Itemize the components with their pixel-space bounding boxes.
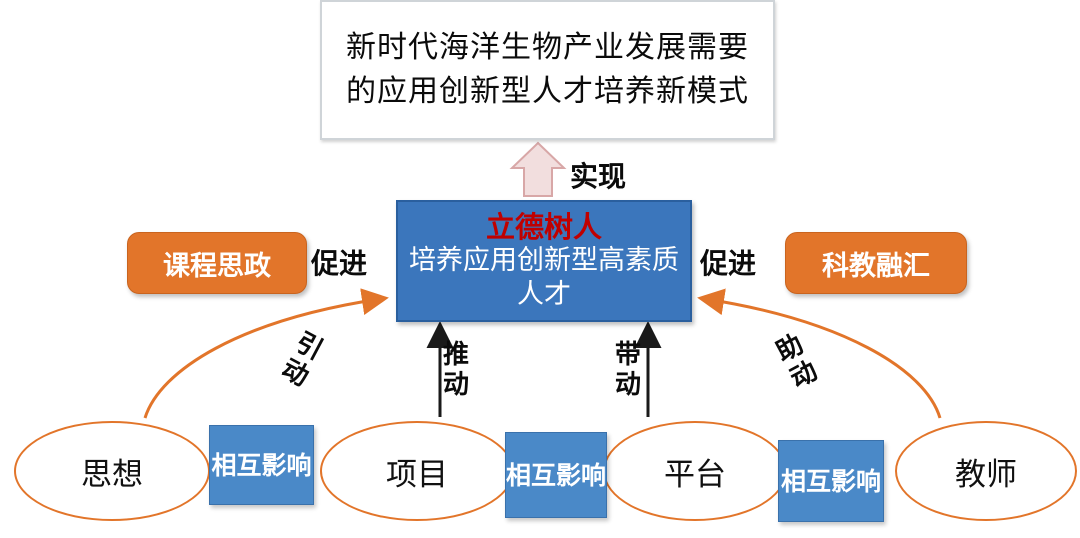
interaction-box-3: 相互影响 [778, 440, 884, 522]
interaction-box-1: 相互影响 [209, 425, 314, 505]
label-promote-left: 促进 [311, 242, 367, 282]
ellipse-sixiang: 思想 [14, 421, 210, 521]
left-orange-box: 课程思政 [127, 232, 307, 294]
ellipse-xiangmu: 项目 [320, 421, 514, 521]
label-drive: 带动 [613, 340, 643, 400]
arrow-up-to-title [512, 143, 564, 196]
label-assist: 助动 [770, 328, 825, 395]
ellipse-jiaoshi: 教师 [895, 421, 1077, 521]
title-text: 新时代海洋生物产业发展需要的应用创新型人才培养新模式 [322, 26, 773, 114]
center-box: 立德树人 培养应用创新型高素质人才 [396, 200, 692, 322]
center-box-subtext: 培养应用创新型高素质人才 [398, 244, 690, 312]
label-promote-right: 促进 [700, 242, 756, 282]
interaction-box-2: 相互影响 [505, 432, 607, 518]
label-guide: 引动 [275, 326, 330, 393]
center-box-heading: 立德树人 [486, 210, 602, 244]
curve-sixiang-to-center [145, 299, 380, 418]
title-box: 新时代海洋生物产业发展需要的应用创新型人才培养新模式 [320, 0, 775, 140]
curve-jiaoshi-to-center [706, 299, 940, 418]
right-orange-box: 科教融汇 [785, 232, 967, 294]
label-realize: 实现 [570, 155, 626, 195]
label-push: 推动 [441, 340, 471, 400]
ellipse-pingtai: 平台 [603, 421, 787, 521]
diagram-canvas: 新时代海洋生物产业发展需要的应用创新型人才培养新模式 实现 立德树人 培养应用创… [0, 0, 1080, 538]
